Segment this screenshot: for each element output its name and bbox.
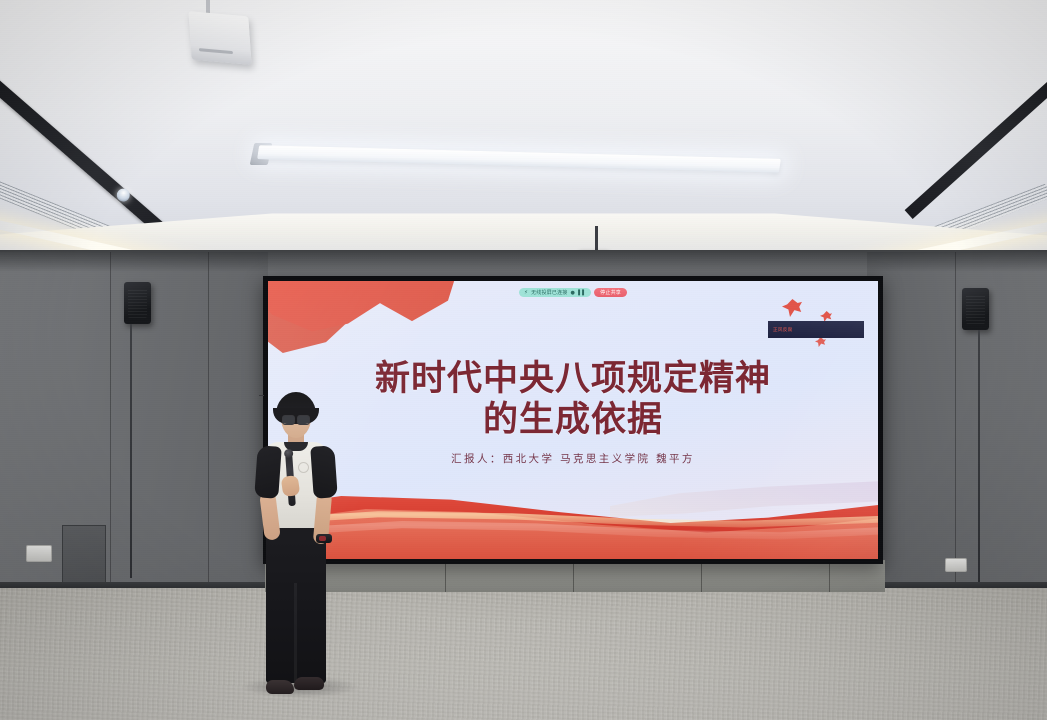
speaker-right xyxy=(962,288,989,330)
wall-panel-seam xyxy=(110,252,111,590)
led-display-screen[interactable]: ⚡ 无线投屏已连接 ● ▌▌ 停止共享 正风反腐 新时代中央八项规定精神 的生成… xyxy=(263,276,883,564)
wall-access-panel xyxy=(62,525,106,587)
slide-title: 新时代中央八项规定精神 的生成依据 xyxy=(268,359,878,442)
presenter-sleeve-left xyxy=(254,445,282,499)
cast-status-label: 无线投屏已连接 xyxy=(531,289,567,296)
wall-panel-seam xyxy=(208,252,209,590)
ceiling xyxy=(0,0,1047,268)
conference-room-photo: ⚡ 无线投屏已连接 ● ▌▌ 停止共享 正风反腐 新时代中央八项规定精神 的生成… xyxy=(0,0,1047,720)
wall-outlet-left xyxy=(26,545,52,562)
slide-banner-label: 正风反腐 xyxy=(768,327,793,333)
dove-icon xyxy=(782,299,802,317)
camera-pole xyxy=(595,226,598,252)
cast-status-pill[interactable]: ⚡ 无线投屏已连接 ● ▌▌ xyxy=(519,288,591,297)
presenter-shirt-logo xyxy=(298,462,309,473)
right-wall-panel xyxy=(867,252,1047,590)
glasses-icon xyxy=(281,415,311,423)
slide-presenter-line: 汇报人：西北大学 马克思主义学院 魏平方 xyxy=(268,451,878,466)
cast-icon: ⚡ xyxy=(524,290,528,296)
carpet-floor xyxy=(0,588,1047,720)
presenter-sleeve-right xyxy=(310,445,338,499)
presenter xyxy=(246,392,342,702)
cabinet-seam xyxy=(701,560,702,592)
wall-outlet-right xyxy=(945,558,967,572)
screen-base-cabinet xyxy=(265,560,885,592)
slide-title-line1: 新时代中央八项规定精神 xyxy=(375,359,771,399)
cabinet-seam xyxy=(573,560,574,592)
signal-bars-icon: ▌▌ xyxy=(578,290,586,296)
speaker-cable-right xyxy=(978,330,980,582)
cabinet-seam xyxy=(829,560,830,592)
stop-share-button[interactable]: 停止共享 xyxy=(594,288,627,297)
presenter-shoe-right xyxy=(294,677,324,690)
speaker-cable-left xyxy=(130,324,132,578)
cast-statusbar[interactable]: ⚡ 无线投屏已连接 ● ▌▌ 停止共享 xyxy=(519,288,627,297)
dove-icon xyxy=(815,337,826,347)
cabinet-seam xyxy=(445,560,446,592)
wall-panel-seam xyxy=(955,252,956,590)
carpet-texture xyxy=(0,588,1047,720)
speaker-left xyxy=(124,282,151,324)
slide-dark-banner: 正风反腐 xyxy=(768,321,864,338)
presenter-wristwatch xyxy=(316,534,332,543)
presenter-trousers xyxy=(266,523,326,683)
slide-title-line2: 的生成依据 xyxy=(268,400,878,441)
wall-top-shadow xyxy=(0,250,1047,272)
slide-canvas[interactable]: ⚡ 无线投屏已连接 ● ▌▌ 停止共享 正风反腐 新时代中央八项规定精神 的生成… xyxy=(268,281,878,559)
presenter-shoe-left xyxy=(266,680,294,694)
wifi-icon: ● xyxy=(570,290,575,296)
ceiling-sensor-box xyxy=(188,11,251,65)
glasses-bridge xyxy=(259,395,264,396)
presenter-hand xyxy=(281,475,301,497)
